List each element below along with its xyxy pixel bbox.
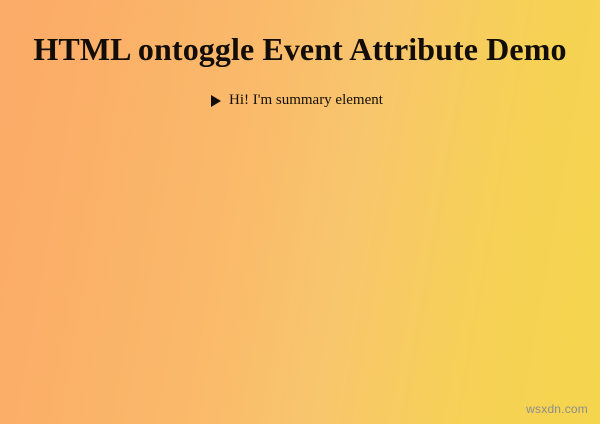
page-title: HTML ontoggle Event Attribute Demo [0,30,600,68]
watermark: wsxdn.com [526,402,588,416]
page-root: HTML ontoggle Event Attribute Demo Hi! I… [0,0,600,424]
details-element[interactable]: Hi! I'm summary element [211,91,411,110]
summary-element[interactable]: Hi! I'm summary element [211,91,383,110]
triangle-right-icon[interactable] [211,95,221,107]
summary-label: Hi! I'm summary element [229,91,383,110]
